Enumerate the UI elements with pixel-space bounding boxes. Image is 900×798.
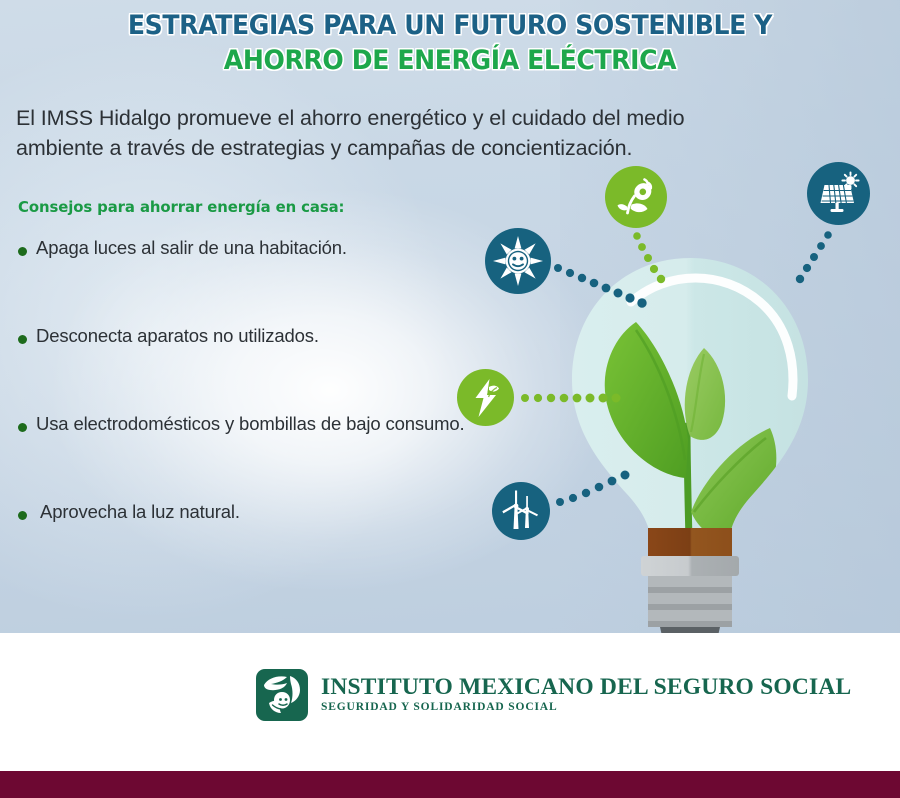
institution-name: INSTITUTO MEXICANO DEL SEGURO SOCIAL (321, 675, 851, 700)
plug-plant-glyph (614, 175, 658, 219)
tip-text: Aprovecha la luz natural. (40, 501, 240, 523)
tip-text: Usa electrodomésticos y bombillas de baj… (36, 413, 465, 435)
tip-text: Apaga luces al salir de una habitación. (36, 237, 347, 259)
footer: INSTITUTO MEXICANO DEL SEGURO SOCIAL SEG… (0, 633, 900, 771)
infographic-poster: ESTRATEGIAS PARA UN FUTURO SOSTENIBLE Y … (0, 0, 900, 798)
bullet-dot-icon (18, 247, 27, 256)
page-title: ESTRATEGIAS PARA UN FUTURO SOSTENIBLE Y … (0, 8, 900, 78)
imss-logo: INSTITUTO MEXICANO DEL SEGURO SOCIAL SEG… (256, 669, 851, 721)
bulb-threads (648, 576, 732, 627)
tip-text: Desconecta aparatos no utilizados. (36, 325, 319, 347)
solar-panel-glyph (816, 171, 862, 217)
bullet-dot-icon (18, 335, 27, 344)
bulb-soil (648, 528, 732, 558)
bullet-dot-icon (18, 423, 27, 432)
title-line-2: AHORRO DE ENERGÍA ELÉCTRICA (32, 43, 869, 78)
list-item: Apaga luces al salir de una habitación. (18, 240, 558, 328)
intro-text: El IMSS Hidalgo promueve el ahorro energ… (16, 106, 684, 130)
bulb-collar (641, 556, 739, 576)
list-item: Usa electrodomésticos y bombillas de baj… (18, 416, 558, 504)
bullet-dot-icon (18, 511, 27, 520)
tips-subtitle: Consejos para ahorrar energía en casa: (18, 198, 344, 216)
title-line-1: ESTRATEGIAS PARA UN FUTURO SOSTENIBLE Y (32, 8, 869, 43)
tips-list: Apaga luces al salir de una habitación. … (18, 240, 558, 592)
list-item: Desconecta aparatos no utilizados. (18, 328, 558, 416)
intro-text-last: ambiente a través de estrategias y campa… (16, 133, 882, 163)
imss-logo-text: INSTITUTO MEXICANO DEL SEGURO SOCIAL SEG… (321, 675, 851, 715)
imss-emblem-icon (256, 669, 308, 721)
solar-panel-icon[interactable] (807, 162, 870, 225)
plug-plant-icon[interactable] (605, 166, 667, 228)
intro-paragraph: El IMSS Hidalgo promueve el ahorro energ… (16, 103, 882, 163)
list-item: Aprovecha la luz natural. (18, 504, 558, 592)
institution-tagline: SEGURIDAD Y SOLIDARIDAD SOCIAL (321, 700, 851, 715)
bottom-bar (0, 771, 900, 798)
